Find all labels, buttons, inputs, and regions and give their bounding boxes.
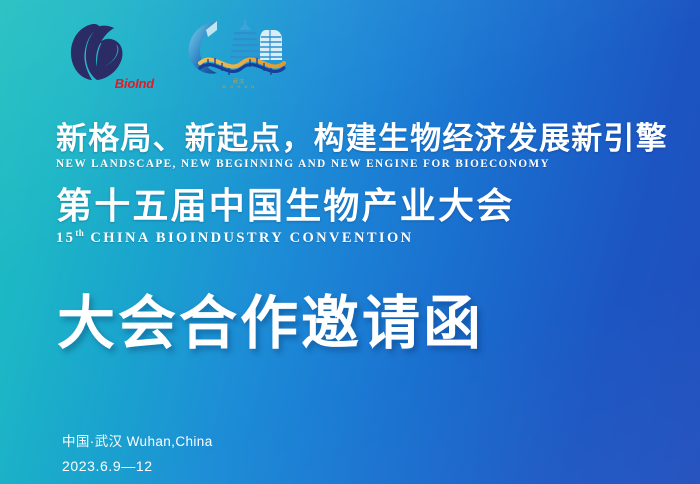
page-title: 大会合作邀请函	[57, 292, 484, 357]
slogan-chinese: 新格局、新起点，构建生物经济发展新引擎	[56, 122, 668, 155]
conference-invitation-poster: BioInd	[0, 0, 700, 484]
event-name-english: 15th CHINA BIOINDUSTRY CONVENTION	[56, 228, 514, 247]
slogan-english: NEW LANDSCAPE, NEW BEGINNING AND NEW ENG…	[56, 158, 668, 170]
bioind-wordmark: BioInd	[115, 77, 154, 90]
convention-logo: 武汉 W U H A N	[184, 18, 294, 90]
event-name-chinese: 第十五届中国生物产业大会	[56, 186, 514, 226]
event-location: 中国·武汉 Wuhan,China	[62, 432, 213, 452]
event-date: 2023.6.9—12	[62, 457, 213, 477]
event-number: 15	[56, 230, 75, 246]
bioind-logo: BioInd	[62, 22, 154, 90]
convention-caption-en: W U H A N	[222, 85, 256, 90]
slogan-block: 新格局、新起点，构建生物经济发展新引擎 NEW LANDSCAPE, NEW B…	[56, 122, 668, 170]
logo-bar: BioInd	[62, 18, 294, 90]
convention-logo-caption: 武汉 W U H A N	[222, 80, 256, 90]
footer-info: 中国·武汉 Wuhan,China 2023.6.9—12	[62, 432, 213, 477]
event-name-english-rest: CHINA BIOINDUSTRY CONVENTION	[90, 230, 413, 246]
event-name-block: 第十五届中国生物产业大会 15th CHINA BIOINDUSTRY CONV…	[56, 186, 514, 247]
event-ordinal-suffix: th	[75, 228, 84, 238]
